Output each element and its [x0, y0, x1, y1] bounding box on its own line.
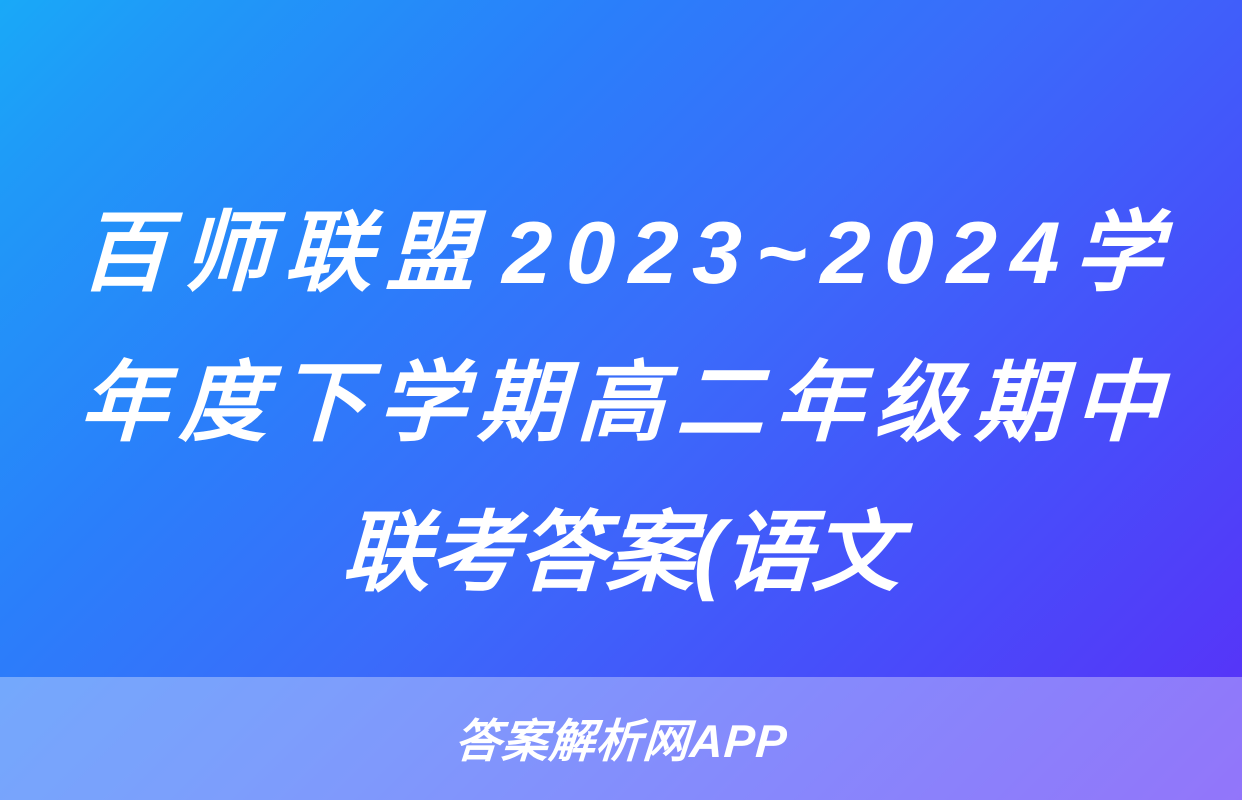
title-char: 2	[945, 178, 999, 328]
title-char: 2	[627, 178, 681, 328]
title-char	[486, 178, 491, 328]
watermark-band: 答案解析网APP	[0, 677, 1242, 800]
title-char: 期	[972, 328, 1065, 478]
title-line-3: 联考答案(语文	[77, 478, 1164, 628]
title-char: 学	[376, 328, 469, 478]
title-char: 2	[500, 178, 554, 328]
title-char: 中	[1071, 328, 1164, 478]
title-char: 盟	[384, 178, 477, 328]
title-line-1: 百 师 联 盟 2 0 2 3 ~ 2 0 2 4 学	[77, 178, 1164, 328]
title-char: 学	[1071, 178, 1164, 328]
cover-canvas: 百 师 联 盟 2 0 2 3 ~ 2 0 2 4 学 年 度 下 学 期 高 …	[0, 0, 1242, 800]
title-char: 年	[77, 328, 170, 478]
title-char: 度	[177, 328, 270, 478]
title-char: 二	[674, 328, 767, 478]
title-char: 年	[773, 328, 866, 478]
title-char: ~	[753, 178, 810, 328]
title-char: 期	[475, 328, 568, 478]
title-line-2: 年 度 下 学 期 高 二 年 级 期 中	[77, 328, 1164, 478]
title-char: 下	[276, 328, 369, 478]
title-char: 级	[873, 328, 966, 478]
title-char: 2	[819, 178, 873, 328]
watermark-label: 答案解析网APP	[453, 718, 789, 764]
title-char: 联	[282, 178, 375, 328]
title-char: 3	[690, 178, 744, 328]
title-char: 0	[564, 178, 618, 328]
page-title: 百 师 联 盟 2 0 2 3 ~ 2 0 2 4 学 年 度 下 学 期 高 …	[80, 178, 1162, 628]
title-char: 师	[180, 178, 273, 328]
title-char: 百	[77, 178, 170, 328]
title-char: 0	[882, 178, 936, 328]
title-char: 高	[574, 328, 667, 478]
title-char: 4	[1008, 178, 1062, 328]
